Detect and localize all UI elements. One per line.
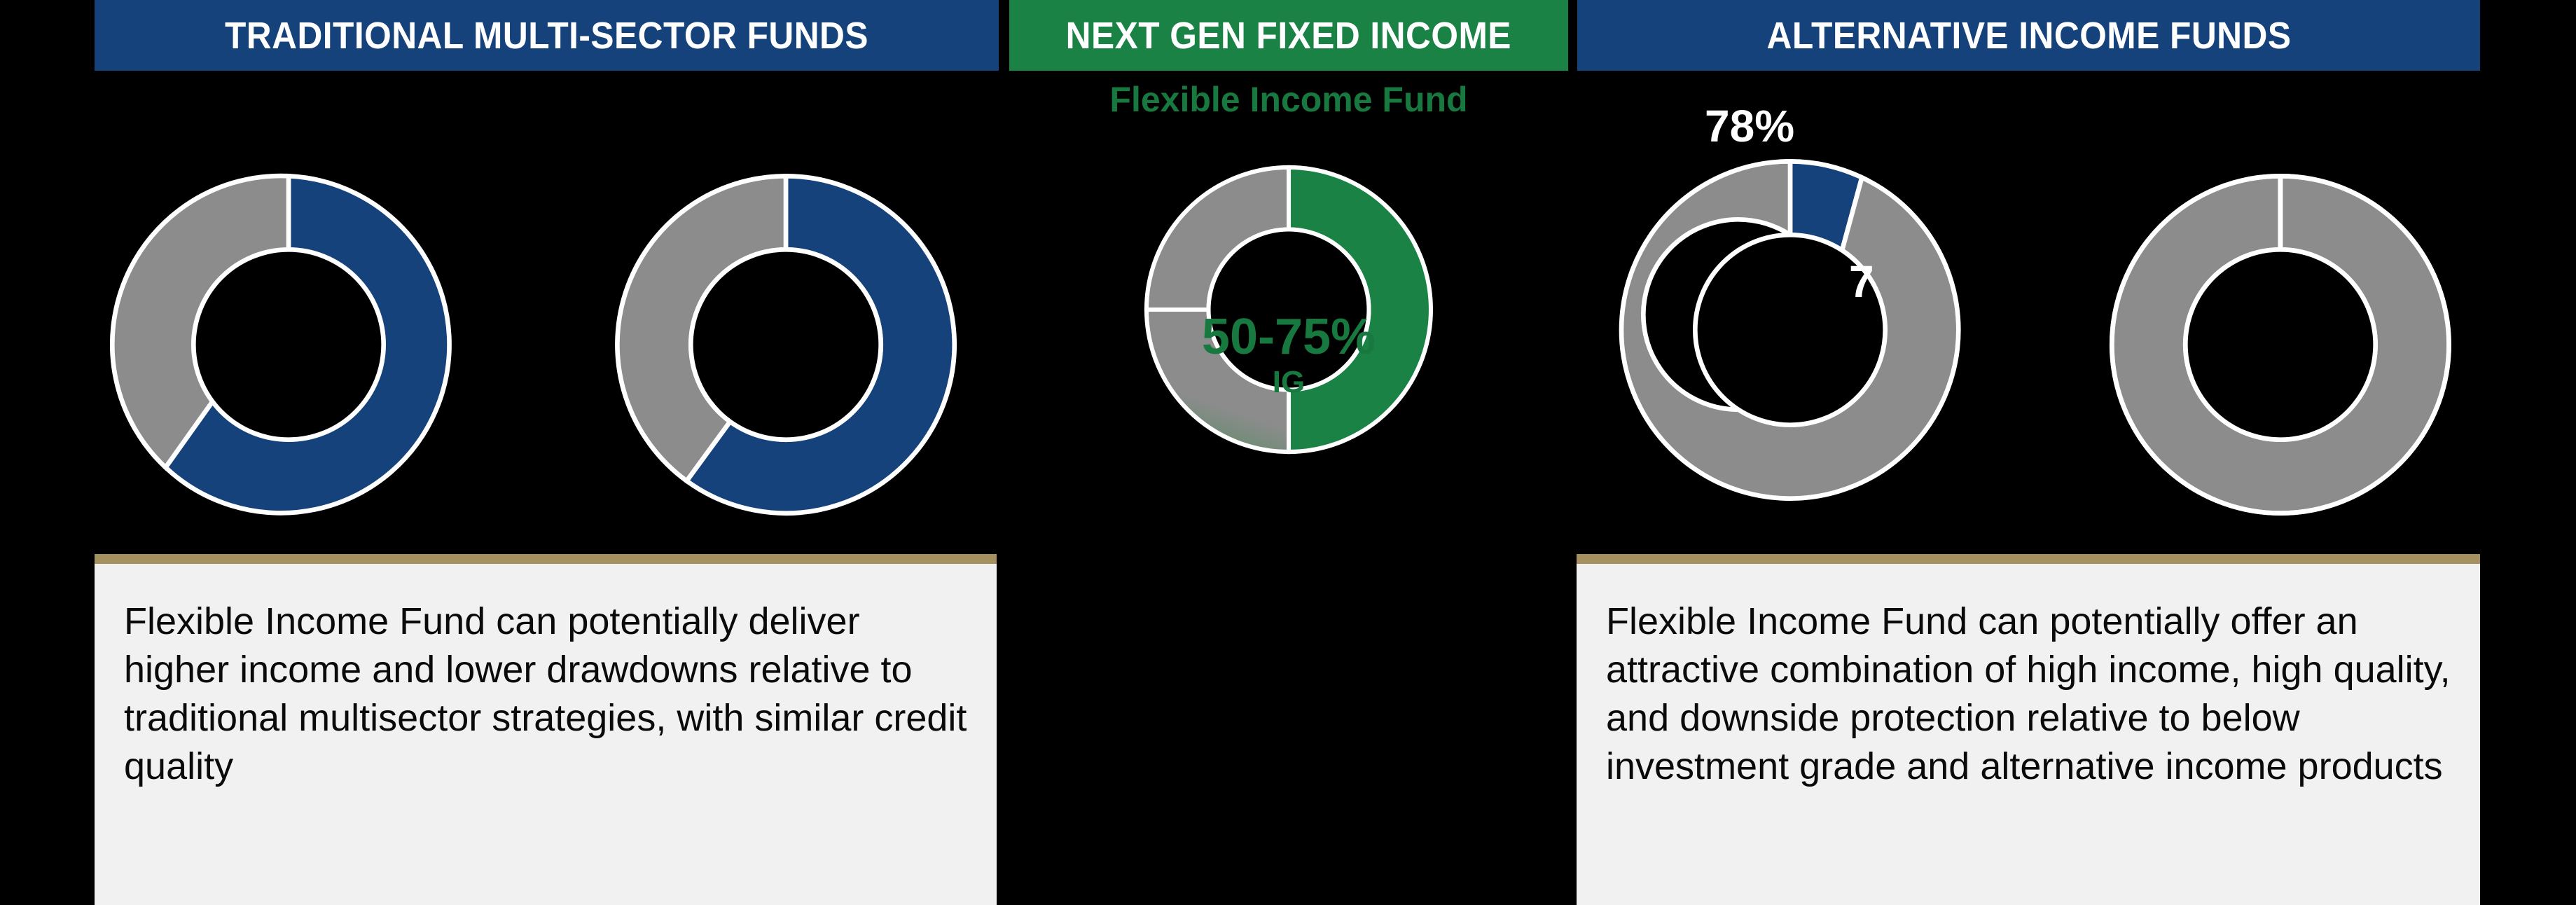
panel-right-body: Flexible Income Fund can potentially off… [1606,597,2451,791]
header-traditional-multi-sector-funds: TRADITIONAL MULTI-SECTOR FUNDS [95,0,999,71]
donut-svg-alternative-1 [1611,151,1969,509]
donut-hole-traditional-2 [691,249,880,439]
donut-chart-flexible-income-fund [1137,158,1440,461]
panel-left-body: Flexible Income Fund can potentially del… [124,597,967,791]
header-traditional-label: TRADITIONAL MULTI-SECTOR FUNDS [225,17,868,55]
donut-hole-traditional-1 [193,249,383,439]
donut-svg-traditional-1 [109,165,468,524]
alt-fund-1-total-label: 78% [1705,104,1794,148]
panel-traditional-description: Flexible Income Fund can potentially del… [95,554,997,905]
donut-svg-flexible-income [1137,158,1440,461]
flexible-income-fund-title: Flexible Income Fund [1009,82,1568,117]
header-next-gen-fixed-income: NEXT GEN FIXED INCOME [1009,0,1568,71]
header-alternative-income-funds: ALTERNATIVE INCOME FUNDS [1577,0,2480,71]
donut-chart-alternative-fund-2 [2101,165,2460,524]
donut-chart-traditional-fund-1 [109,165,468,524]
donut-hole-alternative-2 [2185,249,2375,439]
panel-alternative-description: Flexible Income Fund can potentially off… [1577,554,2480,905]
header-nextgen-label: NEXT GEN FIXED INCOME [1066,17,1511,55]
donut-chart-alternative-fund-1 [1611,151,1969,509]
header-alternative-label: ALTERNATIVE INCOME FUNDS [1766,17,2291,55]
donut-hole-alternative-1 [1695,235,1885,424]
donut-svg-traditional-2 [607,165,965,524]
donut-hole-flexible-income [1209,230,1369,390]
donut-svg-alternative-2 [2101,165,2460,524]
donut-chart-traditional-fund-2 [607,165,965,524]
